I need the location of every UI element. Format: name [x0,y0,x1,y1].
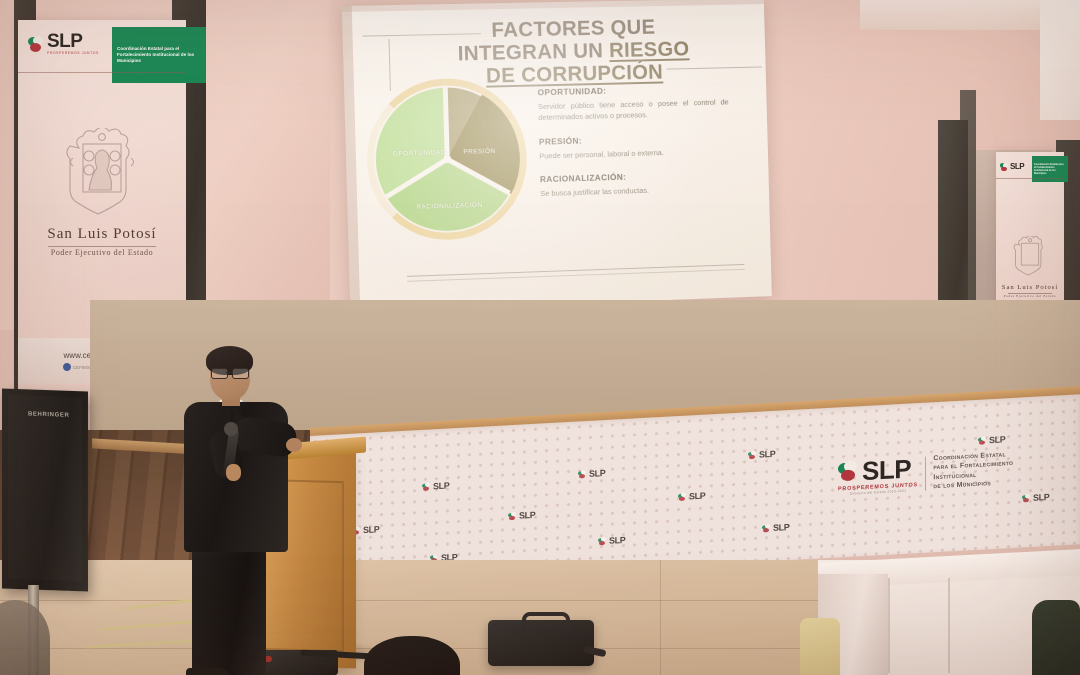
skirt-repeat-wordmark: SLP [609,535,625,546]
table-drape-fold [888,578,890,673]
microphone-head [224,422,238,436]
skirt-coordination-text: Coordinación Estatal para el Fortalecimi… [933,450,1013,491]
skirt-repeat-wordmark: SLP [773,522,789,533]
coat-of-arms-icon [1013,236,1047,276]
skirt-repeat-logo: SLP [678,491,705,502]
projection-screen: FACTORES QUE INTEGRAN UN RIESGO DE CORRU… [342,0,772,312]
floor-tile-line [660,560,661,675]
skirt-repeat-wordmark: SLP [519,510,535,521]
slide-deco-vline [388,39,392,91]
skirt-repeat-wordmark: SLP [759,449,775,460]
skirt-repeat-logo: SLP [352,524,379,535]
slp-dots-icon [838,460,860,483]
presenter-right-hand [286,438,302,452]
skirt-repeat-logo: SLP [422,480,449,491]
presenter-shoe [186,668,230,675]
right-wall-panel [1040,0,1080,120]
slp-dots-icon [1000,163,1008,171]
slide-title: FACTORES QUE INTEGRAN UN RIESGO DE CORRU… [412,14,734,89]
slide-body-oportunidad: Servidor público tiene acceso o posee el… [538,97,729,124]
banner-left-rule [48,246,156,247]
table-drape-fold [948,578,950,673]
presenter-left-hand [226,464,241,481]
presenter-legs [192,544,266,675]
slide-body-racionalizacion: Se busca justificar las conductas. [540,183,731,200]
skirt-repeat-wordmark: SLP [433,480,449,491]
coat-of-arms-icon [65,128,139,216]
skirt-repeat-logo: SLP [508,510,535,521]
skirt-repeat-wordmark: SLP [1033,492,1049,503]
conference-hall-photo: SLP PROSPEREMOS JUNTOS Coordinación Esta… [0,0,1080,675]
banner-left-green-box-text: Coordinación Estatal para el Fortalecimi… [117,46,201,63]
speaker-grill [8,395,82,582]
slp-dots-icon [28,36,45,53]
skirt-repeat-wordmark: SLP [989,434,1005,445]
skirt-repeat-logo: SLP [762,522,789,533]
chair-dark [1032,600,1080,675]
skirt-logo-divider [925,456,927,490]
skirt-repeat-logo: SLP [748,449,775,460]
slp-logo-left: SLP PROSPEREMOS JUNTOS [28,32,99,55]
banner-left-curve [18,72,186,97]
banner-right-subtitle: Poder Ejecutivo del Estado [996,294,1064,298]
facebook-icon [63,363,71,371]
banner-right-green-box-text: Coordinación Estatal para el Fortalecimi… [1034,163,1066,175]
skirt-repeat-logo: SLP [1022,492,1049,503]
slp-tagline-left: PROSPEREMOS JUNTOS [47,52,99,55]
skirt-repeat-wordmark: SLP [589,468,605,479]
slide-body-column: OPORTUNIDAD: Servidor público tiene acce… [537,83,731,213]
banner-right-curve [996,178,1064,191]
skirt-repeat-logo: SLP [978,434,1005,445]
slp-wordmark-left: SLP [47,31,82,52]
banner-right-title: San Luis Potosí [996,284,1064,291]
risk-factors-pie-chart: OPORTUNIDAD PRESIÓN RACIONALIZACIÓN [372,84,522,235]
slide-heading-presion: PRESIÓN: [539,131,730,146]
skirt-repeat-logo: SLP [598,535,625,546]
slide-body-presion: Puede ser personal, laboral o externa. [539,145,730,162]
slide-title-riesgo: RIESGO [609,38,690,62]
skirt-repeat-wordmark: SLP [689,491,705,502]
slp-wordmark-right: SLP [1010,163,1024,171]
banner-left-subtitle: Poder Ejecutivo del Estado [18,248,186,257]
chair-beige [800,618,840,675]
presenter [178,346,302,675]
skirt-repeat-wordmark: SLP [363,524,379,535]
pa-speaker: BEHRINGER [2,388,88,591]
banner-left-title: San Luis Potosí [18,226,186,243]
pie-slices-svg [372,84,522,235]
slp-logo-right: SLP [1000,163,1024,171]
slp-wordmark-skirt: SLP [862,455,911,484]
slide-heading-racionalizacion: RACIONALIZACIÓN: [540,169,731,184]
skirt-repeat-logo: SLP [578,468,605,479]
pie-label-presion: PRESIÓN [457,148,502,156]
bag-handle [522,612,570,628]
glasses-icon [211,368,249,377]
